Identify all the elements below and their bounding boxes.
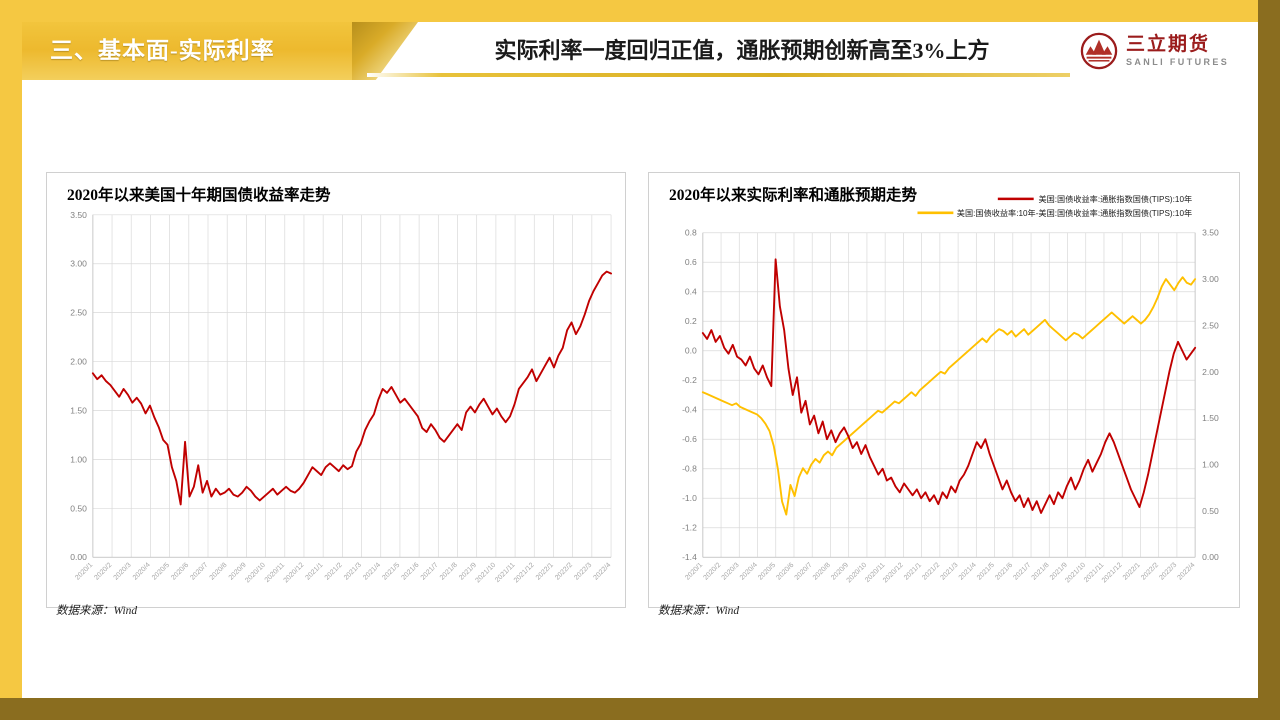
page-title: 实际利率一度回归正值，通胀预期创新高至3%上方 [372,22,1112,80]
x-tick-label: 2022/2 [1140,562,1160,582]
y-tick-label-right: 2.00 [1202,367,1219,377]
x-tick-label: 2020/8 [812,562,832,582]
slide-root: 三、基本面-实际利率 实际利率一度回归正值，通胀预期创新高至3%上方 三立期货 … [0,0,1280,720]
legend-label: 美国:国债收益率:10年-美国:国债收益率:通胀指数国债(TIPS):10年 [957,208,1192,218]
frame-top [0,0,1280,22]
y-tick-label: 3.50 [70,210,87,220]
x-tick-label: 2021/7 [420,562,440,582]
y-tick-label-right: 1.00 [1202,460,1219,470]
x-tick-label: 2021/5 [381,562,401,582]
x-tick-label: 2020/7 [189,562,209,582]
source-note-left: 数据来源：Wind [56,602,137,618]
x-tick-label: 2020/4 [132,562,152,582]
y-tick-label-left: -0.8 [682,464,697,474]
source-note-right: 数据来源：Wind [658,602,739,618]
x-tick-label: 2022/1 [1122,562,1142,582]
y-tick-label-left: 0.0 [685,346,697,356]
mountain-logo-icon [1080,32,1118,70]
x-tick-label: 2021/10 [475,562,498,585]
x-tick-label: 2022/2 [554,562,574,582]
y-tick-label: 2.00 [70,357,87,367]
x-tick-label: 2020/7 [794,562,814,582]
x-tick-label: 2021/6 [400,562,420,582]
x-tick-label: 2020/6 [170,562,190,582]
x-tick-label: 2021/2 [921,562,941,582]
x-tick-label: 2020/10 [244,562,267,585]
series-line-tips [703,259,1195,513]
x-tick-label: 2020/3 [113,562,133,582]
x-tick-label: 2021/12 [1101,562,1124,585]
series-line-us10y [93,272,611,505]
y-tick-label-left: 0.2 [685,316,697,326]
x-tick-label: 2020/5 [151,562,171,582]
x-tick-label: 2022/3 [573,562,593,582]
x-tick-label: 2022/3 [1158,562,1178,582]
y-tick-label-left: 0.4 [685,287,697,297]
x-tick-label: 2020/12 [283,562,306,585]
legend-label: 美国:国债收益率:通胀指数国债(TIPS):10年 [1038,194,1192,204]
x-tick-label: 2020/2 [93,562,113,582]
x-tick-label: 2020/3 [721,562,741,582]
y-tick-label: 0.00 [70,552,87,562]
y-tick-label-left: -0.6 [682,434,697,444]
chart-canvas-left: 0.000.501.001.502.002.503.003.502020/120… [47,173,625,607]
frame-right [1258,0,1280,720]
x-tick-label: 2020/4 [739,562,759,582]
chart-card-real-rate: 2020年以来实际利率和通胀预期走势 -1.4-1.2-1.0-0.8-0.6-… [648,172,1240,608]
y-tick-label-right: 3.50 [1202,228,1219,238]
brand-name-cn: 三立期货 [1126,35,1229,55]
y-tick-label-left: 0.8 [685,228,697,238]
x-tick-label: 2020/2 [702,562,722,582]
y-tick-label-right: 2.50 [1202,320,1219,330]
x-tick-label: 2021/8 [1031,562,1051,582]
x-tick-label: 2021/3 [939,562,959,582]
frame-bottom [0,698,1280,720]
x-tick-label: 2021/8 [439,562,459,582]
x-tick-label: 2021/7 [1012,562,1032,582]
x-tick-label: 2021/4 [362,562,382,582]
x-tick-label: 2021/2 [324,562,344,582]
x-tick-label: 2021/3 [343,562,363,582]
x-tick-label: 2021/12 [513,562,536,585]
y-tick-label-left: -1.4 [682,552,697,562]
slide-header: 三、基本面-实际利率 实际利率一度回归正值，通胀预期创新高至3%上方 三立期货 … [22,22,1258,80]
brand-logo: 三立期货 SANLI FUTURES [1070,24,1250,78]
chart-canvas-right: -1.4-1.2-1.0-0.8-0.6-0.4-0.20.00.20.40.6… [649,173,1239,607]
y-tick-label: 1.00 [70,454,87,464]
x-tick-label: 2020/1 [74,562,94,582]
y-tick-label-right: 0.50 [1202,506,1219,516]
x-tick-label: 2021/1 [305,562,325,582]
y-tick-label-left: -1.2 [682,523,697,533]
y-tick-label-left: -0.2 [682,375,697,385]
series-line-breakeven [703,277,1195,514]
y-tick-label-right: 1.50 [1202,413,1219,423]
title-underline [367,73,1112,77]
x-tick-label: 2020/8 [209,562,229,582]
y-tick-label-left: -0.4 [682,405,697,415]
y-tick-label: 1.50 [70,405,87,415]
x-tick-label: 2022/4 [1177,562,1197,582]
x-tick-label: 2021/4 [958,562,978,582]
y-tick-label-left: -1.0 [682,493,697,503]
x-tick-label: 2021/1 [903,562,923,582]
x-tick-label: 2022/4 [592,562,612,582]
x-tick-label: 2021/5 [976,562,996,582]
x-tick-label: 2020/1 [684,562,704,582]
x-tick-label: 2020/5 [757,562,777,582]
frame-left [0,0,22,720]
y-tick-label-left: 0.6 [685,257,697,267]
brand-name-en: SANLI FUTURES [1126,57,1229,67]
y-tick-label: 0.50 [70,503,87,513]
x-tick-label: 2021/6 [994,562,1014,582]
y-tick-label-right: 0.00 [1202,552,1219,562]
y-tick-label: 2.50 [70,308,87,318]
section-title: 三、基本面-实际利率 [50,22,275,80]
x-tick-label: 2020/12 [882,562,905,585]
y-tick-label: 3.00 [70,259,87,269]
x-tick-label: 2022/1 [535,562,555,582]
chart-card-us10y: 2020年以来美国十年期国债收益率走势 0.000.501.001.502.00… [46,172,626,608]
x-tick-label: 2020/6 [775,562,795,582]
y-tick-label-right: 3.00 [1202,274,1219,284]
